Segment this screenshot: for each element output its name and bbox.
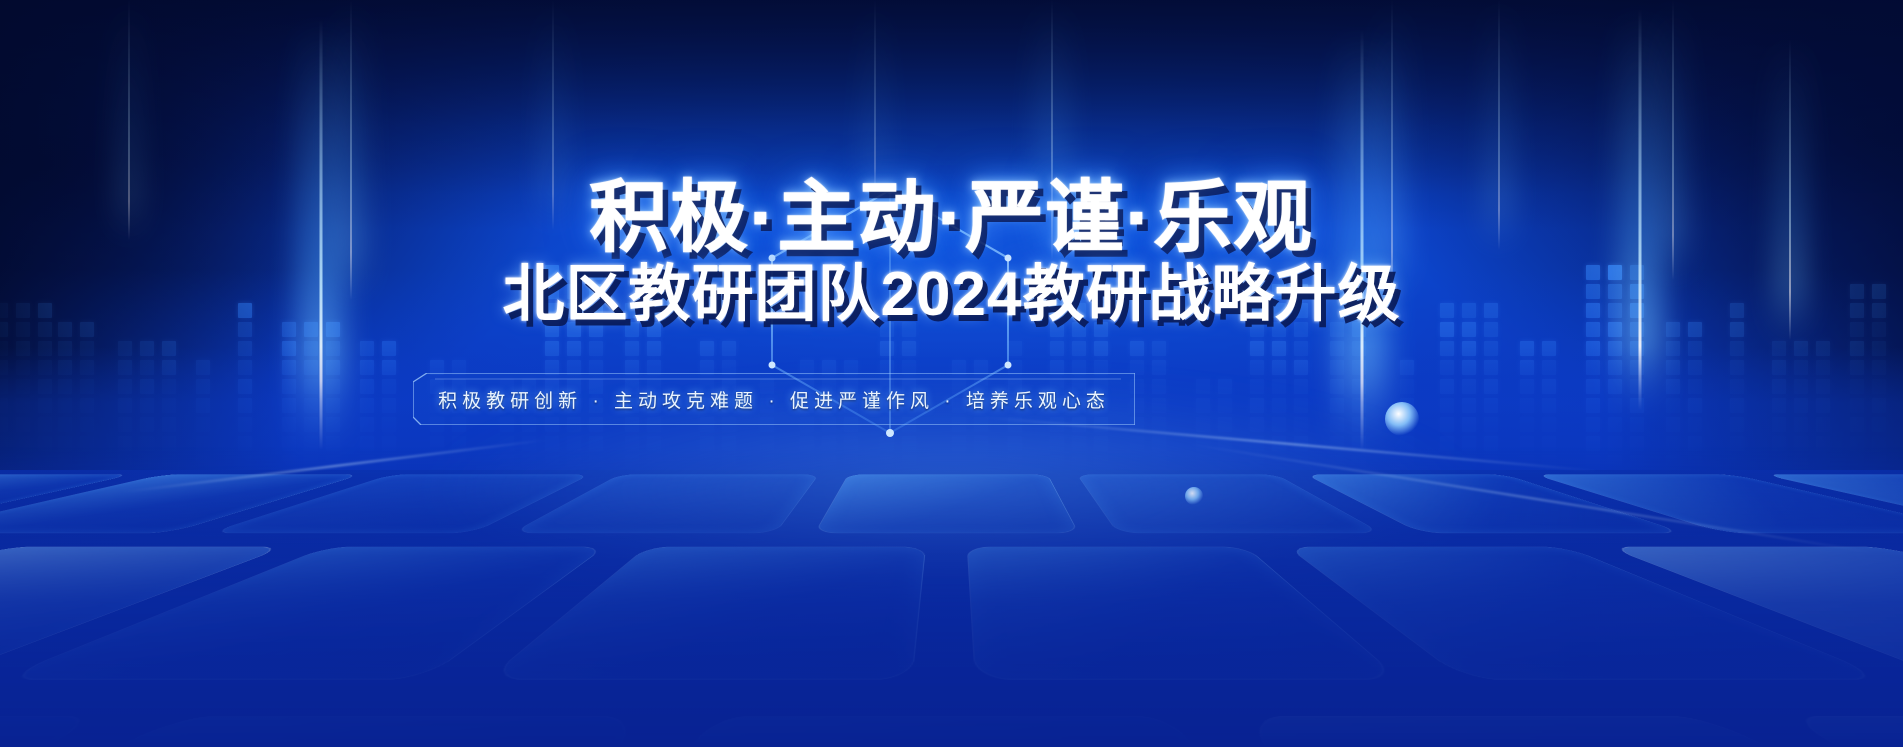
banner-canvas: 积极·主动·严谨·乐观 北区教研团队2024教研战略升级 积极教研创新 · 主动… bbox=[0, 0, 1903, 747]
page-title: 积极·主动·严谨·乐观 bbox=[590, 178, 1314, 256]
page-subtitle: 北区教研团队2024教研战略升级 bbox=[503, 264, 1401, 326]
main-title-container: 积极·主动·严谨·乐观 bbox=[0, 178, 1903, 256]
subtitle-container: 北区教研团队2024教研战略升级 bbox=[0, 264, 1903, 326]
light-orb bbox=[1185, 487, 1203, 505]
tagline-text: 积极教研创新 · 主动攻克难题 · 促进严谨作风 · 培养乐观心态 bbox=[413, 373, 1135, 425]
light-orb bbox=[1385, 402, 1419, 436]
tagline-frame: 积极教研创新 · 主动攻克难题 · 促进严谨作风 · 培养乐观心态 bbox=[413, 373, 1135, 425]
floor-fade bbox=[0, 447, 1903, 747]
